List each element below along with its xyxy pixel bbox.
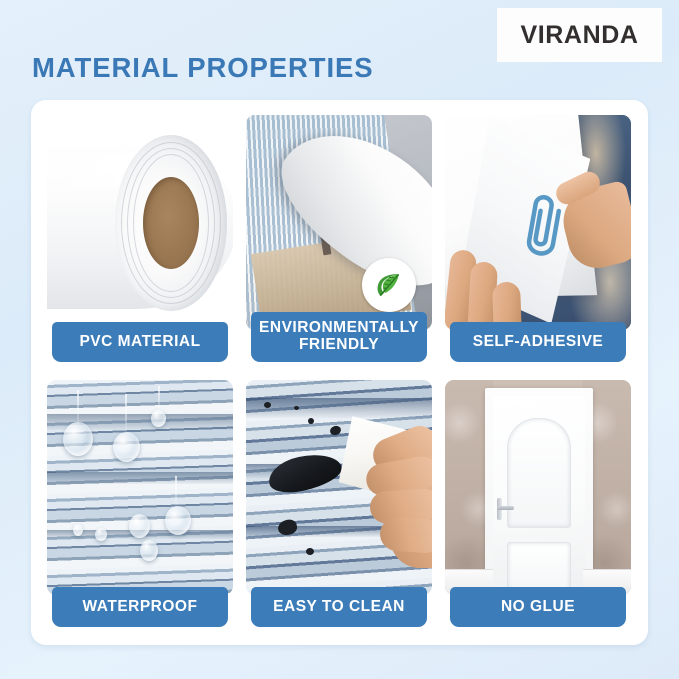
feature-tile-environmentally-friendly[interactable]: ENVIRONMENTALLY FRIENDLY [246, 115, 432, 362]
water-droplet [165, 506, 191, 535]
tile-label-no-glue: NO GLUE [450, 587, 626, 627]
water-droplet [140, 540, 158, 561]
tile-label-self-adhesive: SELF-ADHESIVE [450, 322, 626, 362]
feature-tile-no-glue[interactable]: NO GLUE [445, 380, 631, 627]
tile-label-easy-to-clean: EASY TO CLEAN [251, 587, 427, 627]
water-droplets-photo [47, 380, 233, 595]
tile-label-pvc-material: PVC MATERIAL [52, 322, 228, 362]
grain-band [246, 398, 432, 418]
feature-tile-waterproof[interactable]: WATERPROOF [47, 380, 233, 627]
white-door-photo [445, 380, 631, 595]
grain-band [47, 472, 233, 484]
stain-mark [294, 406, 299, 410]
stain-mark [265, 449, 344, 498]
brand-logo: VIRANDA [497, 8, 662, 62]
water-droplet [113, 432, 140, 462]
door-leaf [493, 396, 585, 595]
droplet-trail [175, 476, 177, 508]
adhesive-backing-photo [445, 115, 631, 330]
water-droplet [73, 524, 83, 536]
door-handle-lever [497, 506, 514, 510]
droplet-trail [77, 390, 79, 426]
stain-mark [329, 425, 342, 437]
droplet-trail [158, 386, 160, 412]
left-hand [447, 240, 525, 330]
feature-tile-easy-to-clean[interactable]: EASY TO CLEAN [246, 380, 432, 627]
stain-mark [264, 402, 271, 408]
door-panel-top [507, 418, 571, 528]
water-droplet [95, 528, 107, 541]
finger [379, 516, 432, 554]
leaf-icon [372, 268, 406, 302]
tile-label-waterproof: WATERPROOF [52, 587, 228, 627]
wallpaper-peel-photo [246, 115, 432, 330]
feature-tile-pvc-material[interactable]: PVC MATERIAL [47, 115, 233, 362]
page-header: VIRANDA MATERIAL PROPERTIES [0, 0, 679, 100]
droplet-trail [125, 394, 127, 434]
page-title: MATERIAL PROPERTIES [32, 52, 374, 84]
stain-mark [306, 548, 314, 555]
water-droplet [63, 422, 93, 456]
feature-tile-self-adhesive[interactable]: SELF-ADHESIVE [445, 115, 631, 362]
feature-card: PVC MATERIAL [31, 100, 648, 645]
tile-label-environmentally-friendly: ENVIRONMENTALLY FRIENDLY [251, 312, 427, 362]
water-droplet [151, 410, 166, 427]
water-droplet [129, 514, 150, 538]
wipe-cloth-photo [246, 380, 432, 595]
stain-mark [308, 418, 314, 424]
brand-logo-text: VIRANDA [520, 21, 638, 50]
roll-cardboard-core [143, 177, 199, 269]
wiping-hand [350, 432, 432, 572]
feature-tile-grid: PVC MATERIAL [47, 115, 632, 627]
eco-leaf-badge [362, 258, 416, 312]
pvc-roll-photo [47, 115, 233, 330]
